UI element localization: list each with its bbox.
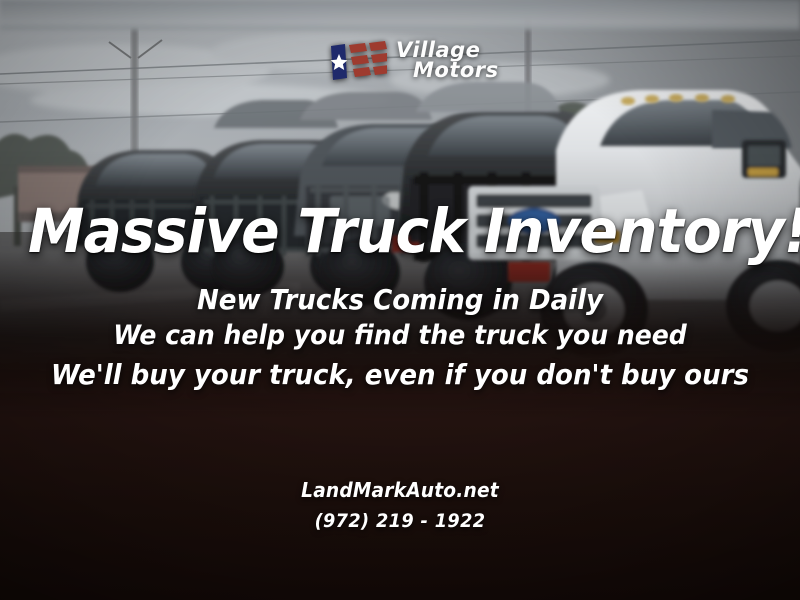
headline: Massive Truck Inventory! — [28, 196, 772, 267]
subheading-1: New Trucks Coming in Daily — [28, 283, 772, 316]
logo-text-motors: Motors — [413, 61, 499, 81]
website-url[interactable]: LandMarkAuto.net — [28, 478, 772, 502]
texas-flag-stripes-icon — [325, 40, 387, 82]
dealership-promo-banner: Village Motors Massive Truck Inventory! … — [0, 0, 800, 600]
village-motors-logo: Village Motors — [325, 40, 499, 82]
subheading-3: We'll buy your truck, even if you don't … — [28, 358, 772, 391]
phone-number[interactable]: (972) 219 - 1922 — [28, 510, 772, 532]
subheading-2: We can help you find the truck you need — [28, 320, 772, 351]
